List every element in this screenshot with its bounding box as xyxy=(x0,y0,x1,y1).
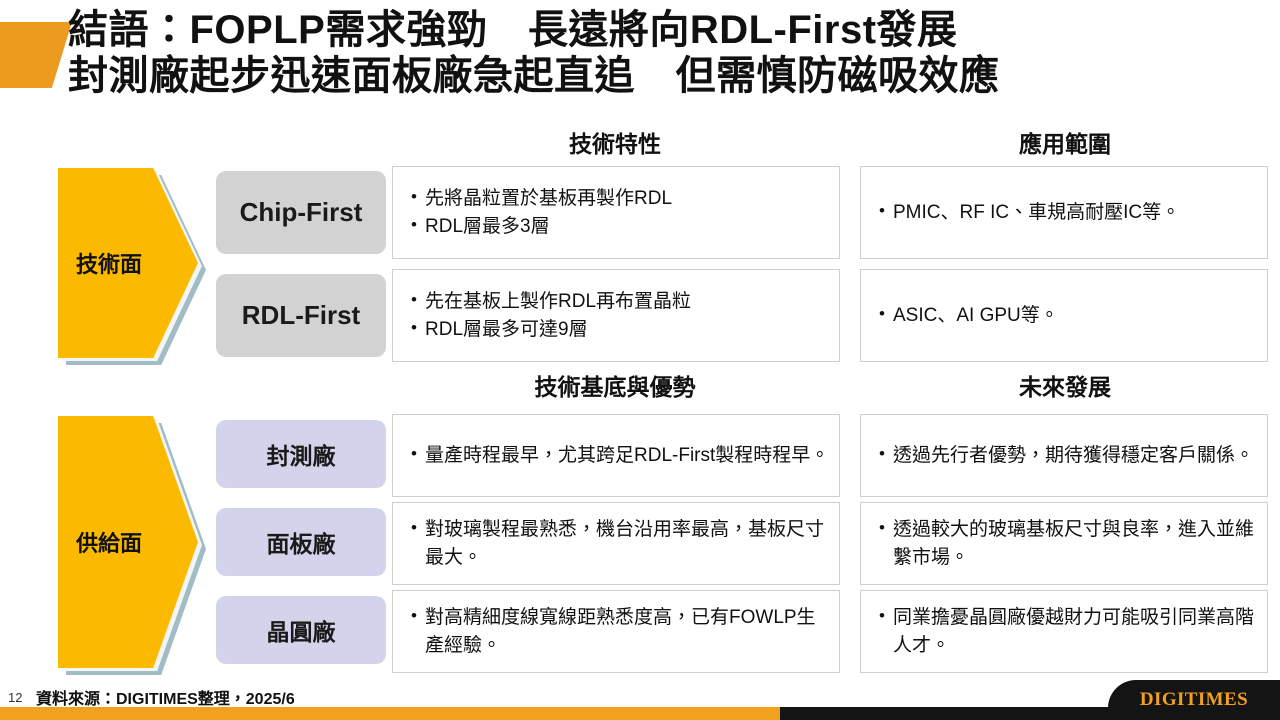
pill-foundry: 晶圓廠 xyxy=(216,596,386,664)
box-rdl-first-characteristics: • 先在基板上製作RDL再布置晶粒 • RDL層最多可達9層 xyxy=(392,269,840,362)
box-chip-first-applications: • PMIC、RF IC、車規高耐壓IC等。 xyxy=(860,166,1268,259)
bullet-item: • RDL層最多可達9層 xyxy=(393,316,839,344)
box-panel-maker-base-advantage: • 對玻璃製程最熟悉，機台沿用率最高，基板尺寸最大。 xyxy=(392,502,840,585)
bullet-item: • 對玻璃製程最熟悉，機台沿用率最高，基板尺寸最大。 xyxy=(393,516,839,571)
bullet-dot-icon: • xyxy=(871,604,893,629)
bullet-text: 對玻璃製程最熟悉，機台沿用率最高，基板尺寸最大。 xyxy=(425,516,833,571)
pill-rdl-first: RDL-First xyxy=(216,274,386,357)
bullet-text: ASIC、AI GPU等。 xyxy=(893,302,1059,330)
bullet-text: RDL層最多可達9層 xyxy=(425,316,588,344)
bullet-dot-icon: • xyxy=(403,604,425,629)
source-note: 資料來源：DIGITIMES整理，2025/6 xyxy=(36,685,295,709)
bullet-text: 對高精細度線寬線距熟悉度高，已有FOWLP生產經驗。 xyxy=(425,604,833,659)
header-technology-characteristics: 技術特性 xyxy=(390,125,840,159)
bullet-dot-icon: • xyxy=(403,185,425,210)
bullet-text: 透過先行者優勢，期待獲得穩定客戶關係。 xyxy=(893,442,1254,470)
bullet-text: RDL層最多3層 xyxy=(425,213,550,241)
pill-osat: 封測廠 xyxy=(216,420,386,488)
bullet-item: • PMIC、RF IC、車規高耐壓IC等。 xyxy=(861,199,1267,227)
bullet-item: • 同業擔憂晶圓廠優越財力可能吸引同業高階人才。 xyxy=(861,604,1267,659)
bullet-dot-icon: • xyxy=(871,199,893,224)
pill-panel-maker: 面板廠 xyxy=(216,508,386,576)
slide-canvas: 結語：FOPLP需求強勁 長遠將向RDL-First發展 封測廠起步迅速面板廠急… xyxy=(0,0,1280,720)
title-line-2: 封測廠起步迅速面板廠急起直追 但需慎防磁吸效應 xyxy=(68,54,1258,100)
box-osat-base-advantage: • 量產時程最早，尤其跨足RDL-First製程時程早。 xyxy=(392,414,840,497)
bullet-text: 先將晶粒置於基板再製作RDL xyxy=(425,185,672,213)
bullet-text: PMIC、RF IC、車規高耐壓IC等。 xyxy=(893,199,1180,227)
chevron-supply: 供給面 xyxy=(58,416,198,668)
bullet-dot-icon: • xyxy=(403,316,425,341)
digitimes-logo: DIGITIMES xyxy=(1108,680,1280,720)
bullet-dot-icon: • xyxy=(871,442,893,467)
box-foundry-base-advantage: • 對高精細度線寬線距熟悉度高，已有FOWLP生產經驗。 xyxy=(392,590,840,673)
header-technology-base-advantage: 技術基底與優勢 xyxy=(390,368,840,402)
pill-chip-first: Chip-First xyxy=(216,171,386,254)
bullet-item: • ASIC、AI GPU等。 xyxy=(861,302,1267,330)
bullet-dot-icon: • xyxy=(871,302,893,327)
bullet-text: 同業擔憂晶圓廠優越財力可能吸引同業高階人才。 xyxy=(893,604,1261,659)
bullet-text: 量產時程最早，尤其跨足RDL-First製程時程早。 xyxy=(425,442,829,470)
page-title: 結語：FOPLP需求強勁 長遠將向RDL-First發展 封測廠起步迅速面板廠急… xyxy=(68,8,1258,99)
box-chip-first-characteristics: • 先將晶粒置於基板再製作RDL • RDL層最多3層 xyxy=(392,166,840,259)
box-osat-future: • 透過先行者優勢，期待獲得穩定客戶關係。 xyxy=(860,414,1268,497)
box-panel-maker-future: • 透過較大的玻璃基板尺寸與良率，進入並維繫市場。 xyxy=(860,502,1268,585)
bullet-dot-icon: • xyxy=(403,516,425,541)
box-foundry-future: • 同業擔憂晶圓廠優越財力可能吸引同業高階人才。 xyxy=(860,590,1268,673)
bullet-dot-icon: • xyxy=(403,288,425,313)
chevron-supply-label: 供給面 xyxy=(58,526,142,558)
bullet-item: • 透過較大的玻璃基板尺寸與良率，進入並維繫市場。 xyxy=(861,516,1267,571)
box-rdl-first-applications: • ASIC、AI GPU等。 xyxy=(860,269,1268,362)
bullet-item: • 先將晶粒置於基板再製作RDL xyxy=(393,185,839,213)
bullet-item: • RDL層最多3層 xyxy=(393,213,839,241)
title-line-1: 結語：FOPLP需求強勁 長遠將向RDL-First發展 xyxy=(68,8,1258,54)
bullet-dot-icon: • xyxy=(403,213,425,238)
bullet-text: 透過較大的玻璃基板尺寸與良率，進入並維繫市場。 xyxy=(893,516,1261,571)
header-future-development: 未來發展 xyxy=(860,368,1270,402)
bullet-item: • 先在基板上製作RDL再布置晶粒 xyxy=(393,288,839,316)
bullet-item: • 對高精細度線寬線距熟悉度高，已有FOWLP生產經驗。 xyxy=(393,604,839,659)
bullet-dot-icon: • xyxy=(871,516,893,541)
header-application-scope: 應用範圍 xyxy=(860,125,1270,159)
chevron-technology-label: 技術面 xyxy=(58,247,142,279)
bullet-item: • 量產時程最早，尤其跨足RDL-First製程時程早。 xyxy=(393,442,839,470)
footer-bar-orange xyxy=(0,707,780,720)
bullet-item: • 透過先行者優勢，期待獲得穩定客戶關係。 xyxy=(861,442,1267,470)
bullet-text: 先在基板上製作RDL再布置晶粒 xyxy=(425,288,691,316)
title-accent-shape xyxy=(0,22,72,88)
digitimes-logo-text: DIGITIMES xyxy=(1140,689,1248,711)
bullet-dot-icon: • xyxy=(403,442,425,467)
chevron-technology: 技術面 xyxy=(58,168,198,358)
page-number: 12 xyxy=(8,690,22,705)
